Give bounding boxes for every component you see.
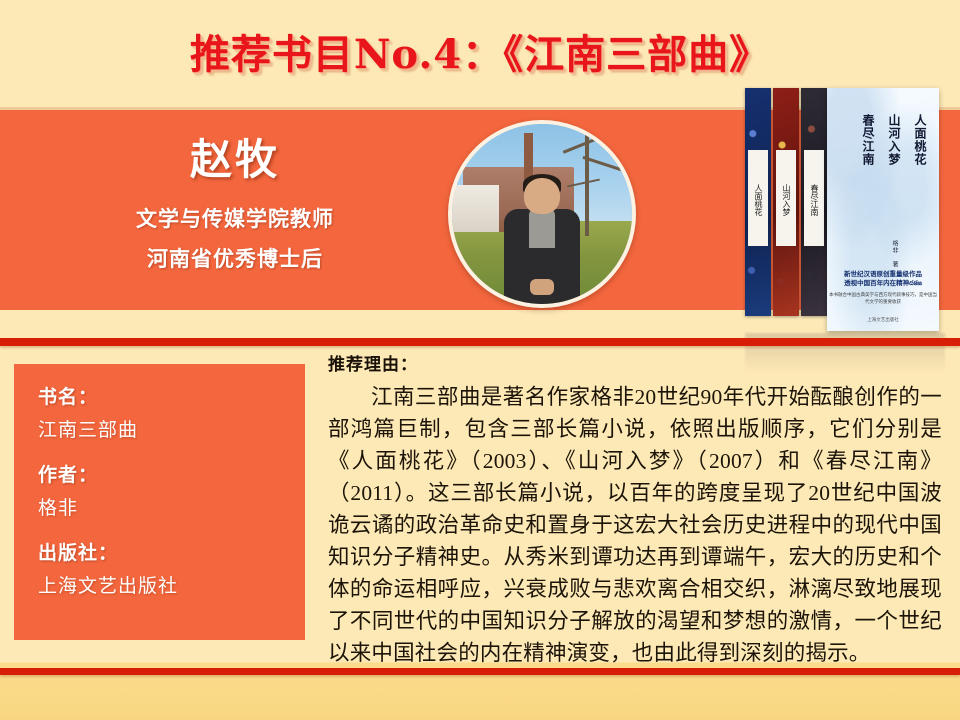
speaker-honor: 河南省优秀博士后 [60,243,410,273]
info-label-publisher: 出版社： [38,538,305,565]
portrait-portico [452,185,499,232]
speaker-name: 赵牧 [60,126,410,187]
book-spine-3-label: 春尽江南 [804,150,824,246]
book-spine-1: 人面桃花 [745,88,771,316]
info-value-author: 格非 [38,493,305,520]
info-value-publisher: 上海文艺出版社 [38,571,305,598]
slipcase-title-3: 春尽江南 [860,114,877,234]
slipcase-publisher: 上海文艺出版社 [827,317,939,323]
info-label-author: 作者： [38,460,305,487]
book-info-card: 书名： 江南三部曲 作者： 格非 出版社： 上海文艺出版社 [14,364,305,640]
slipcase-title-group: 人面桃花 山河入梦 春尽江南 [860,114,929,234]
slipcase-copy-small: 本书融合中国古典美学与西方现代叙事技巧，是中国当代文学的重要收获 [827,291,939,305]
divider-rule-bottom [0,668,960,675]
slipcase-title-1: 人面桃花 [912,114,929,234]
slipcase-copy: 新世纪汉语原创重量级作品 透视中国百年内在精神దకజ 本书融合中国古典美学与西方… [827,270,939,305]
book-spine-2: 山河入梦 [773,88,799,316]
book-spine-3: 春尽江南 [801,88,827,316]
book-spine-2-label: 山河入梦 [776,150,796,246]
recommendation-text: 江南三部曲是著名作家格非20世纪90年代开始酝酿创作的一部鸿篇巨制，包含三部长篇… [328,381,942,669]
info-label-title: 书名： [38,382,305,409]
speaker-affiliation: 文学与传媒学院教师 [60,203,410,233]
slipcase-title-2: 山河入梦 [886,114,903,234]
book-slipcase: 人面桃花 山河入梦 春尽江南 格非 著 新世纪汉语原创重量级作品 透视中国百年内… [827,88,939,331]
divider-rule-top [0,338,960,346]
slide-canvas: 推荐书目No.4：《江南三部曲》 赵牧 文学与传媒学院教师 河南省优秀博士后 人… [0,0,960,720]
portrait-face [524,178,560,214]
portrait-shirt [529,209,554,249]
slipcase-author: 格非 著 [890,240,899,268]
book-boxset-image: 人面桃花 山河入梦 春尽江南 人面桃花 山河入梦 春尽江南 格非 著 新世纪汉语… [745,88,945,333]
page-title: 推荐书目No.4：《江南三部曲》 [190,22,770,80]
title-container: 推荐书目No.4：《江南三部曲》 [0,22,960,80]
recommendation-section: 推荐理由： 江南三部曲是著名作家格非20世纪90年代开始酝酿创作的一部鸿篇巨制，… [328,350,942,669]
portrait-hands [530,279,553,295]
info-value-title: 江南三部曲 [38,415,305,442]
book-spine-1-label: 人面桃花 [748,150,768,246]
recommendation-heading: 推荐理由： [328,350,942,375]
speaker-block: 赵牧 文学与传媒学院教师 河南省优秀博士后 [60,126,410,273]
slipcase-copy-line1: 新世纪汉语原创重量级作品 [827,270,939,279]
speaker-portrait [448,120,636,308]
slipcase-copy-line2: 透视中国百年内在精神దకజ [827,279,939,288]
